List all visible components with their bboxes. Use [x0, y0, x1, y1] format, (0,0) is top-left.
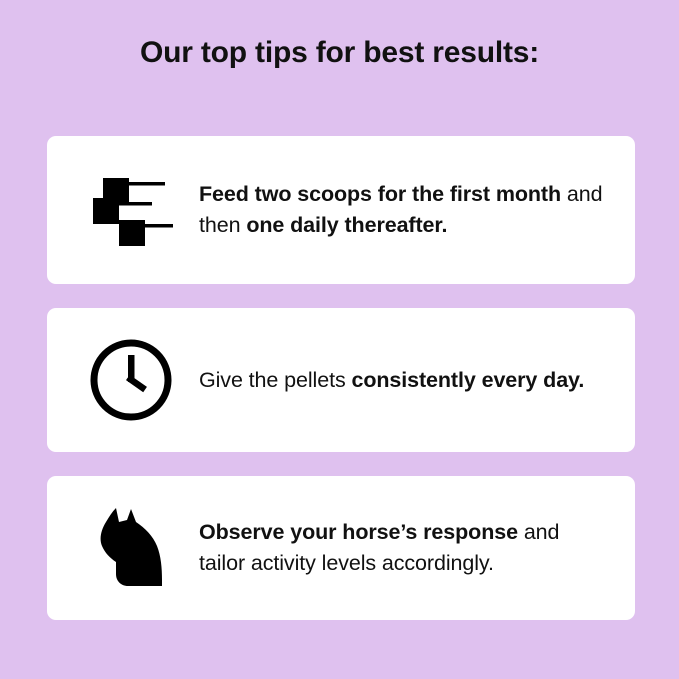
tip-text: Give the pellets consistently every day.	[199, 365, 596, 396]
tip-text-part: consistently every day.	[351, 368, 584, 392]
tip-text: Feed two scoops for the first month and …	[199, 179, 619, 240]
tip-text-part: Observe your horse’s response	[199, 520, 518, 544]
tip-text-part: Give the pellets	[199, 368, 351, 392]
infographic-page: Our top tips for best results: Feed two …	[0, 0, 679, 679]
tip-text: Observe your horse’s response and tailor…	[199, 517, 619, 578]
tips-list: Feed two scoops for the first month and …	[47, 136, 635, 644]
tip-card: Give the pellets consistently every day.	[47, 308, 635, 452]
clock-icon	[63, 308, 199, 452]
tip-text-part: one daily thereafter.	[246, 213, 447, 237]
tip-card: Feed two scoops for the first month and …	[47, 136, 635, 284]
scoops-blocks-icon	[63, 136, 199, 284]
horse-head-icon	[63, 476, 199, 620]
tip-card: Observe your horse’s response and tailor…	[47, 476, 635, 620]
tip-text-part: Feed two scoops for the first month	[199, 182, 561, 206]
page-title: Our top tips for best results:	[0, 36, 679, 70]
